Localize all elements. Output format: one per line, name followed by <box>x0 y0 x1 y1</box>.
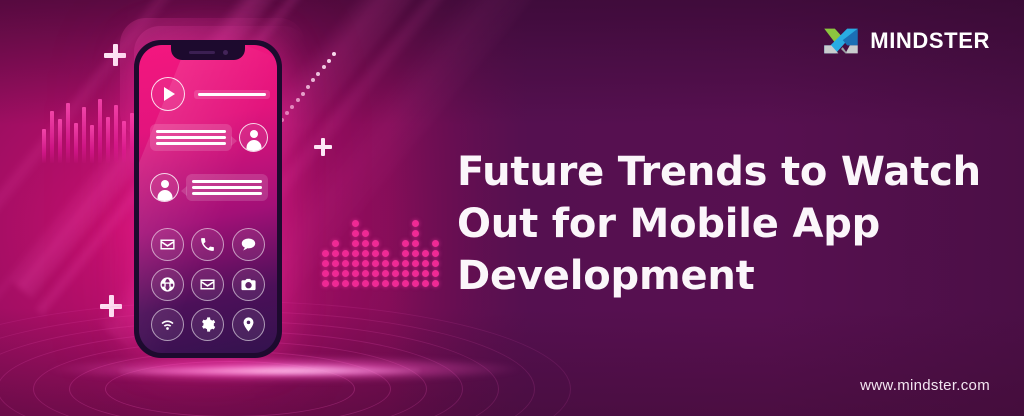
matrix-dot <box>372 270 379 277</box>
matrix-dot <box>362 230 369 237</box>
matrix-dot <box>382 260 389 267</box>
chat-bubble-icon[interactable] <box>232 228 265 261</box>
front-camera-icon <box>223 50 228 55</box>
app-icon-grid <box>151 228 265 341</box>
media-player-row <box>151 77 270 111</box>
globe-icon[interactable] <box>151 268 184 301</box>
equalizer-bar <box>90 125 94 163</box>
matrix-dot <box>332 270 339 277</box>
location-pin-icon[interactable] <box>232 308 265 341</box>
envelope-icon[interactable] <box>151 228 184 261</box>
equalizer-bar <box>106 117 110 163</box>
avatar <box>239 123 268 152</box>
matrix-dot <box>352 270 359 277</box>
matrix-dot <box>422 270 429 277</box>
speaker-grille-icon <box>189 51 215 54</box>
matrix-dot <box>412 240 419 247</box>
decor-plus-icon <box>314 138 332 156</box>
matrix-dot <box>342 250 349 257</box>
matrix-dot <box>412 260 419 267</box>
message-row-incoming <box>150 173 268 202</box>
matrix-dot <box>322 260 329 267</box>
matrix-dot <box>422 260 429 267</box>
decor-ripple-rings <box>0 284 580 416</box>
matrix-dot <box>382 270 389 277</box>
matrix-dot <box>352 260 359 267</box>
diagonal-dot <box>301 92 305 96</box>
equalizer-bar <box>66 103 70 163</box>
media-title-bar <box>194 90 270 99</box>
diagonal-dot <box>306 85 310 89</box>
website-url[interactable]: www.mindster.com <box>860 377 990 394</box>
matrix-dot <box>342 270 349 277</box>
envelope-icon[interactable] <box>191 268 224 301</box>
matrix-dot <box>352 220 359 227</box>
matrix-dot <box>352 250 359 257</box>
diagonal-dot <box>322 65 326 69</box>
matrix-dot <box>412 250 419 257</box>
wifi-icon[interactable] <box>151 308 184 341</box>
equalizer-bar <box>98 99 102 163</box>
decor-plus-icon <box>104 44 126 66</box>
matrix-dot <box>392 260 399 267</box>
matrix-dot <box>412 220 419 227</box>
matrix-dot <box>372 260 379 267</box>
diagonal-dot <box>296 98 300 102</box>
diagonal-dot <box>332 52 336 56</box>
chat-bubble <box>150 124 232 151</box>
play-icon[interactable] <box>151 77 185 111</box>
matrix-dot <box>432 260 439 267</box>
matrix-dot <box>362 260 369 267</box>
matrix-dot <box>402 260 409 267</box>
equalizer-bar <box>58 119 62 163</box>
matrix-dot <box>402 270 409 277</box>
decor-floor-glow-core <box>120 366 420 376</box>
matrix-dot <box>402 240 409 247</box>
matrix-dot <box>352 230 359 237</box>
message-row-outgoing <box>150 123 268 152</box>
matrix-dot <box>322 250 329 257</box>
decor-dotted-diagonal <box>332 52 334 53</box>
matrix-dot <box>342 260 349 267</box>
matrix-dot <box>432 270 439 277</box>
matrix-dot <box>392 270 399 277</box>
matrix-dot <box>382 250 389 257</box>
matrix-dot <box>432 250 439 257</box>
camera-icon[interactable] <box>232 268 265 301</box>
phone-notch <box>171 45 245 60</box>
equalizer-bar <box>74 123 78 163</box>
equalizer-bar <box>122 121 126 163</box>
gear-icon[interactable] <box>191 308 224 341</box>
page-title: Future Trends to Watch Out for Mobile Ap… <box>457 146 1002 302</box>
equalizer-bar <box>82 107 86 163</box>
matrix-dot <box>432 240 439 247</box>
equalizer-bar <box>114 105 118 163</box>
matrix-dot <box>332 260 339 267</box>
matrix-dot <box>412 230 419 237</box>
matrix-dot <box>322 270 329 277</box>
matrix-dot <box>362 270 369 277</box>
matrix-dot <box>332 240 339 247</box>
matrix-dot <box>422 250 429 257</box>
matrix-dot <box>412 270 419 277</box>
matrix-dot <box>402 250 409 257</box>
equalizer-bar <box>42 129 46 163</box>
chat-bubble <box>186 174 268 201</box>
promo-banner: MINDSTER Future Trends to Watch Out for … <box>0 0 1024 416</box>
mindster-logo-icon <box>823 26 859 56</box>
phone-screen <box>139 45 277 353</box>
play-triangle-icon <box>164 87 175 101</box>
logo-text: MINDSTER <box>870 28 990 54</box>
matrix-dot <box>362 240 369 247</box>
brand-logo[interactable]: MINDSTER <box>823 26 990 56</box>
matrix-dot <box>352 240 359 247</box>
equalizer-bar <box>50 111 54 163</box>
avatar <box>150 173 179 202</box>
diagonal-dot <box>327 59 331 63</box>
matrix-dot <box>362 250 369 257</box>
matrix-dot <box>372 250 379 257</box>
phone-mockup <box>134 40 282 358</box>
matrix-dot <box>372 240 379 247</box>
phone-icon[interactable] <box>191 228 224 261</box>
matrix-dot <box>332 250 339 257</box>
